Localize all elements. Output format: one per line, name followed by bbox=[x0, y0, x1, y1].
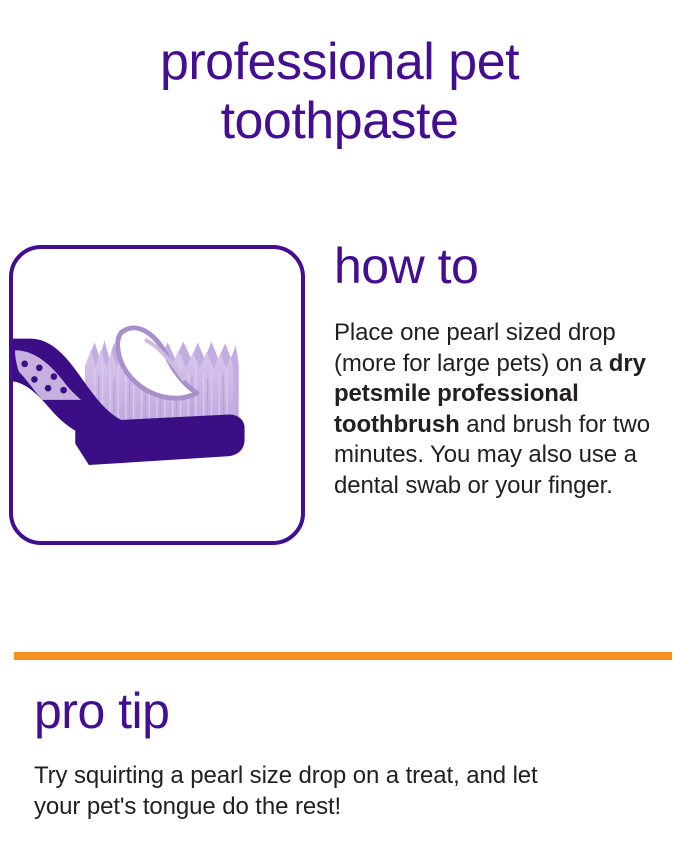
pro-tip-body: Try squirting a pearl size drop on a tre… bbox=[34, 761, 664, 822]
toothbrush-illustration-card bbox=[9, 245, 305, 545]
how-to-body: Place one pearl sized drop (more for lar… bbox=[334, 318, 664, 501]
pro-tip-section: pro tip Try squirting a pearl size drop … bbox=[34, 683, 664, 822]
how-to-heading: how to bbox=[334, 240, 664, 292]
how-to-text-block: how to Place one pearl sized drop (more … bbox=[334, 240, 664, 501]
how-to-section: how to Place one pearl sized drop (more … bbox=[0, 240, 679, 560]
page-title: professional pet toothpaste bbox=[0, 33, 679, 151]
how-to-body-part1: Place one pearl sized drop (more for lar… bbox=[334, 319, 616, 377]
toothbrush-with-paste-icon bbox=[13, 249, 301, 541]
pro-tip-heading: pro tip bbox=[34, 683, 664, 739]
orange-divider bbox=[14, 652, 672, 660]
